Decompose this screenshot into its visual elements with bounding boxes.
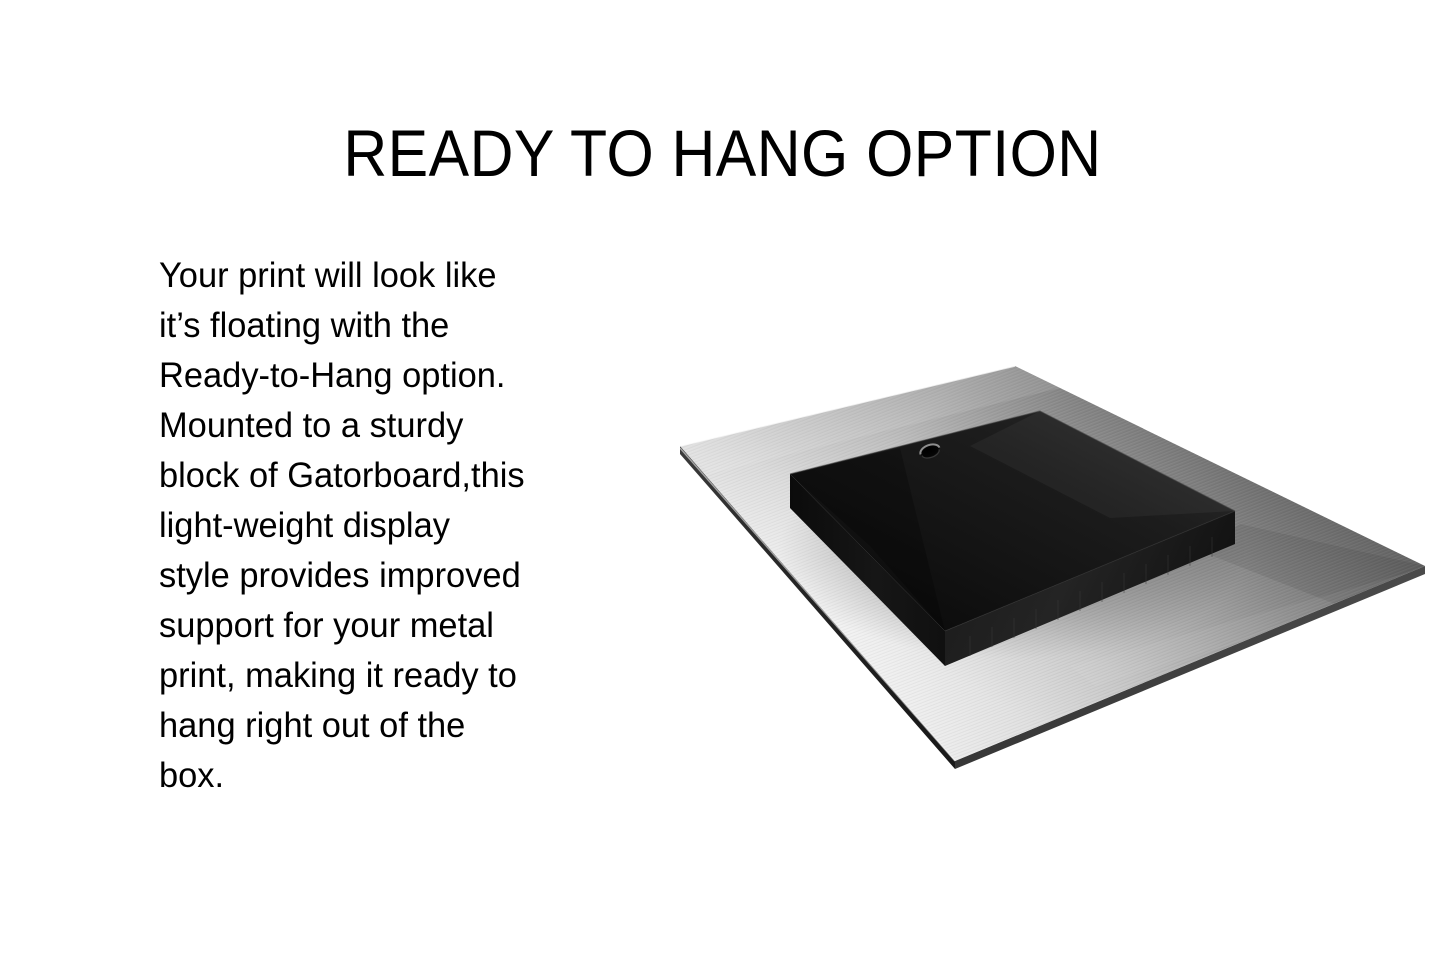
product-image [640,336,1445,796]
body-copy-line: box. [159,750,557,800]
body-copy-line: Your print will look like [159,250,557,300]
body-copy-line: style provides improved [159,550,557,600]
body-copy-line: print, making it ready to [159,650,557,700]
body-copy-line: block of Gatorboard,this [159,450,557,500]
body-copy-line: Ready-to-Hang option. [159,350,557,400]
body-copy-line: Mounted to a sturdy [159,400,557,450]
body-copy-line: hang right out of the [159,700,557,750]
body-copy-line: light-weight display [159,500,557,550]
page-title: READY TO HANG OPTION [58,120,1387,186]
body-copy-line: support for your metal [159,600,557,650]
body-copy-block: Your print will look like it’s floating … [159,250,557,800]
slide-canvas: READY TO HANG OPTION Your print will loo… [0,0,1445,963]
ready-to-hang-illustration [640,336,1445,796]
body-copy-line: it’s floating with the [159,300,557,350]
